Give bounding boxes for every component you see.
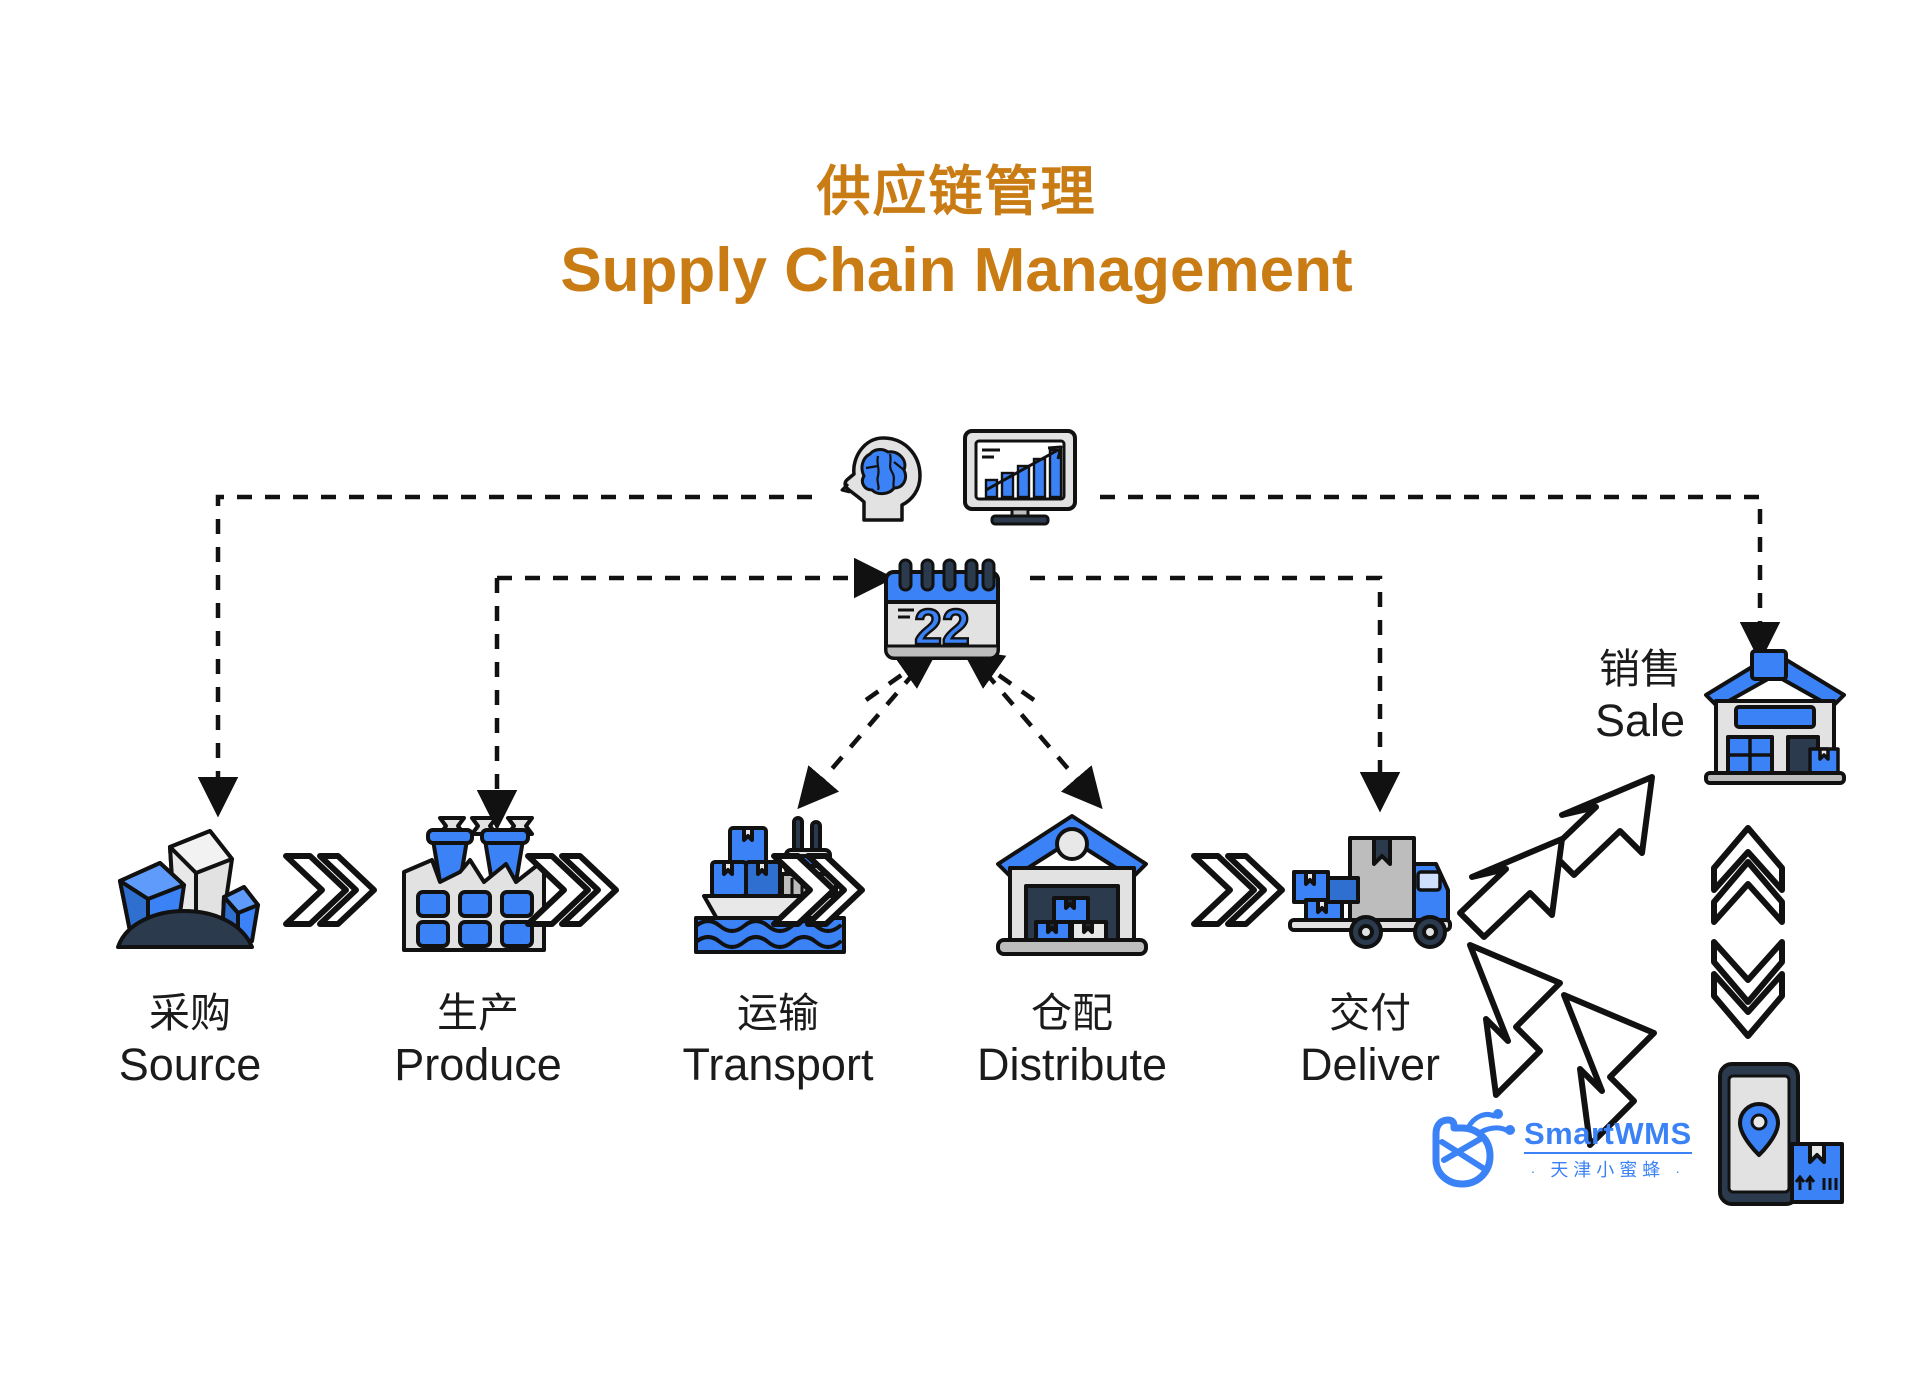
double-chevron-right-icon [524,852,620,928]
stage-label-source-en: Source [60,1038,320,1093]
stage-label-transport-zh: 运输 [648,988,908,1038]
double-chevron-up-icon [1708,824,1788,926]
page-title-chinese: 供应链管理 [0,165,1913,219]
stage-label-deliver: 交付 Deliver [1240,988,1500,1093]
stage-label-transport: 运输 Transport [648,988,908,1093]
double-chevron-right-icon [1190,852,1286,928]
sale-label-zh: 销售 [1555,645,1725,694]
sale-label: 销售 Sale [1555,645,1725,748]
stage-label-deliver-en: Deliver [1240,1038,1500,1093]
double-chevron-right-icon [770,852,866,928]
analytics-monitor-icon [962,428,1078,526]
stage-label-produce-en: Produce [348,1038,608,1093]
raw-materials-icon [110,815,260,955]
calendar-icon: 22 [880,558,1004,668]
stage-label-distribute: 仓配 Distribute [942,988,1202,1093]
stage-label-deliver-zh: 交付 [1240,988,1500,1038]
stage-label-source: 采购 Source [60,988,320,1093]
mobile-order-icon [1700,1060,1850,1210]
stage-label-source-zh: 采购 [60,988,320,1038]
diagram-canvas: 供应链管理 Supply Chain Management [0,0,1913,1375]
sale-label-en: Sale [1555,694,1725,748]
page-title-english: Supply Chain Management [0,240,1913,302]
calendar-day-number: 22 [914,599,970,655]
stage-label-distribute-zh: 仓配 [942,988,1202,1038]
double-chevron-up-right-icon [1462,755,1692,955]
brain-head-icon [838,432,928,524]
double-chevron-down-icon [1708,938,1788,1040]
bee-logo-icon [1432,1108,1518,1188]
logo-subtitle: · 天津小蜜蜂 · [1524,1161,1692,1179]
stage-label-transport-en: Transport [648,1038,908,1093]
stage-label-produce: 生产 Produce [348,988,608,1093]
stage-label-distribute-en: Distribute [942,1038,1202,1093]
double-chevron-right-icon [282,852,378,928]
warehouse-icon [992,812,1152,960]
logo-name: SmartWMS [1524,1118,1692,1154]
delivery-truck-icon [1288,820,1452,960]
logo-subtitle-text: 天津小蜜蜂 [1550,1160,1665,1180]
stage-label-produce-zh: 生产 [348,988,608,1038]
smartwms-logo: SmartWMS · 天津小蜜蜂 · [1432,1108,1692,1188]
